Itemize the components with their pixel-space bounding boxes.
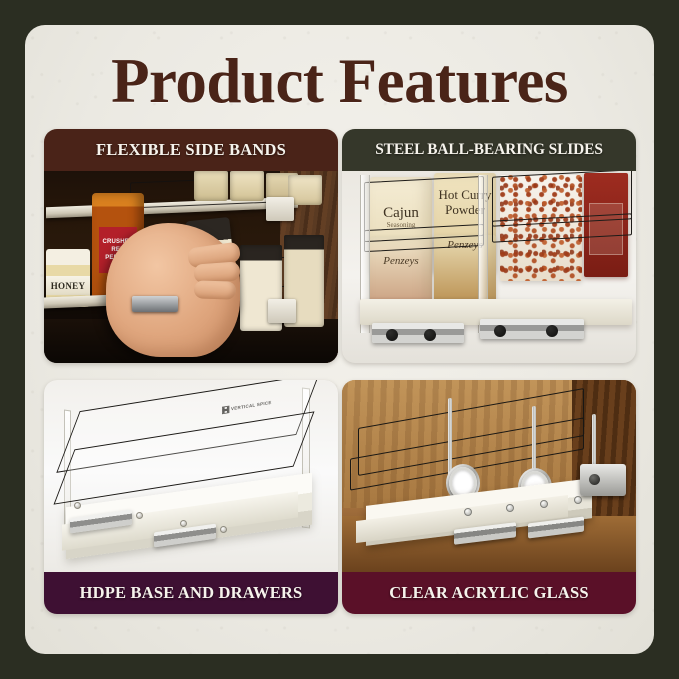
feature-label-steel-ball-bearing-slides: STEEL BALL-BEARING SLIDES: [375, 141, 603, 159]
page-title: Product Features: [25, 43, 654, 119]
feature-banner-clear-acrylic-glass: CLEAR ACRYLIC GLASS: [342, 572, 636, 614]
feature-label-clear-acrylic-glass: CLEAR ACRYLIC GLASS: [389, 583, 588, 603]
spice-jar: [230, 171, 264, 201]
feature-photo-flexible-side-bands: HONEY CRUSHED RED PEPPER: [44, 171, 338, 363]
finger: [194, 280, 237, 299]
side-band-bracket: [268, 299, 296, 323]
brand-name-penzeys: Penzeys: [370, 255, 432, 267]
vertical-spice-logo-mark: [222, 406, 229, 415]
screw: [74, 502, 81, 509]
mounting-knob: [574, 496, 582, 504]
ball-bearing: [386, 329, 398, 341]
feature-banner-flexible-side-bands: FLEXIBLE SIDE BANDS: [44, 129, 338, 171]
feature-banner-hdpe-base-and-drawers: HDPE BASE AND DRAWERS: [44, 572, 338, 614]
cabinet-hinge: [580, 464, 626, 496]
product-features-infographic: Product Features FLEXIBLE SIDE BANDS HON…: [0, 0, 679, 679]
spice-jar: [194, 171, 228, 201]
feature-label-flexible-side-bands: FLEXIBLE SIDE BANDS: [96, 140, 286, 160]
screw: [220, 526, 227, 533]
feature-label-hdpe-base-and-drawers: HDPE BASE AND DRAWERS: [80, 583, 303, 603]
feature-panel-steel-ball-bearing-slides[interactable]: STEEL BALL-BEARING SLIDES Cajun Seasonin…: [342, 129, 636, 363]
feature-banner-steel-ball-bearing-slides: STEEL BALL-BEARING SLIDES: [342, 129, 636, 171]
infographic-card: Product Features FLEXIBLE SIDE BANDS HON…: [25, 25, 654, 654]
feature-photo-steel-ball-bearing-slides: Cajun Seasoning Penzeys Hot Curry Powder…: [342, 171, 636, 363]
screw: [136, 512, 143, 519]
mounting-knob: [464, 508, 472, 516]
cabinet-hinge-hole: [589, 474, 600, 485]
feature-photo-clear-acrylic-glass: [342, 380, 636, 572]
feature-panel-clear-acrylic-glass[interactable]: CLEAR ACRYLIC GLASS: [342, 380, 636, 614]
ball-bearing: [424, 329, 436, 341]
screw: [180, 520, 187, 527]
feature-panel-hdpe-base-and-drawers[interactable]: VERTICAL SPICE HDPE BASE AND DRAWERS: [44, 380, 338, 614]
feature-panel-flexible-side-bands[interactable]: FLEXIBLE SIDE BANDS HONEY CRUSHED RED PE…: [44, 129, 338, 363]
mounting-knob: [540, 500, 548, 508]
feature-photo-hdpe-base-and-drawers: VERTICAL SPICE: [44, 380, 338, 572]
mounting-knob: [506, 504, 514, 512]
ball-bearing: [494, 325, 506, 337]
drawer-slide: [132, 296, 178, 312]
honey-jar-label: HONEY: [46, 276, 90, 296]
side-band-bracket: [266, 197, 294, 221]
ball-bearing: [546, 325, 558, 337]
